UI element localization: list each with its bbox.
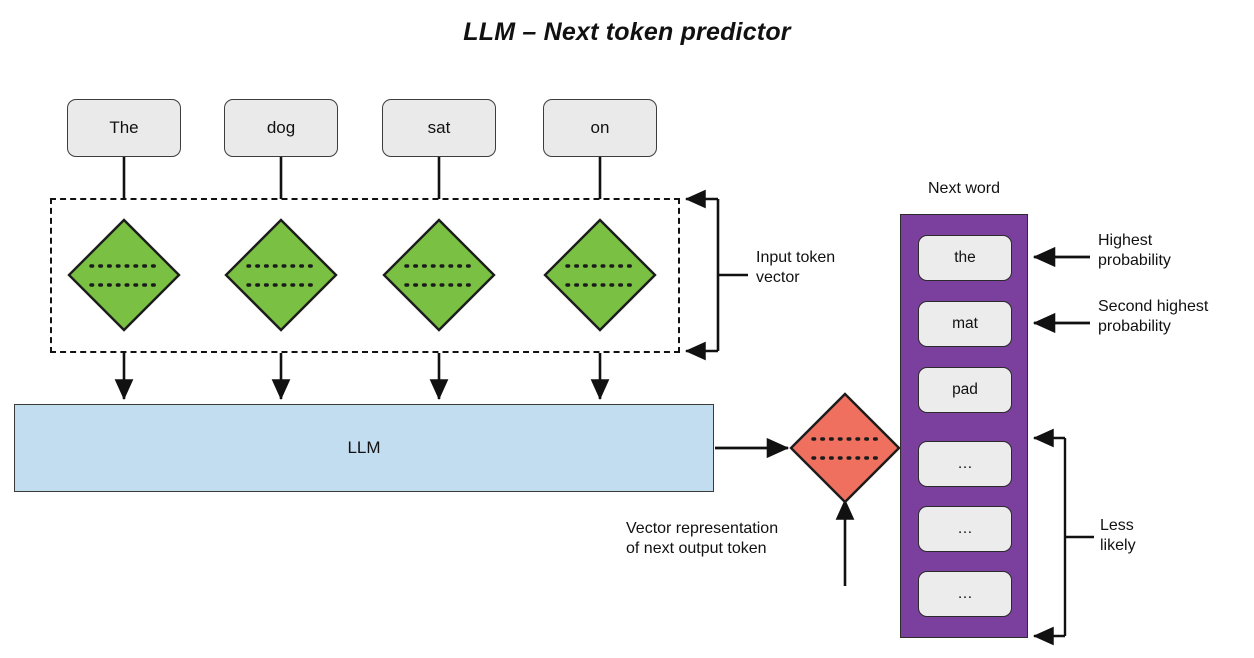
vocabulary-column: the mat pad … … … — [900, 214, 1028, 638]
token-vector-diamond-3[interactable] — [380, 216, 498, 334]
candidate-word-box-2[interactable]: mat — [918, 301, 1012, 347]
input-token-box-2[interactable]: dog — [224, 99, 338, 157]
token-vector-diamond-1[interactable] — [65, 216, 183, 334]
llm-block[interactable]: LLM — [14, 404, 714, 492]
annotation-less-likely: Less likely — [1100, 516, 1210, 555]
input-token-box-4[interactable]: on — [543, 99, 657, 157]
token-vector-diamond-2[interactable] — [222, 216, 340, 334]
candidate-word-label: mat — [952, 315, 978, 333]
input-token-label: dog — [267, 118, 295, 138]
input-token-label: sat — [428, 118, 451, 138]
candidate-word-box-6[interactable]: … — [918, 571, 1012, 617]
candidate-word-label: … — [957, 455, 973, 473]
annotation-second-highest-probability: Second highest probability — [1098, 297, 1254, 336]
input-token-label: The — [109, 118, 138, 138]
annotation-input-token-vector: Input token vector — [756, 248, 886, 287]
candidate-word-box-4[interactable]: … — [918, 441, 1012, 487]
diagram-canvas: LLM – Next token predictor — [0, 0, 1254, 658]
next-word-header: Next word — [900, 180, 1028, 198]
input-token-box-3[interactable]: sat — [382, 99, 496, 157]
candidate-word-box-1[interactable]: the — [918, 235, 1012, 281]
candidate-word-box-3[interactable]: pad — [918, 367, 1012, 413]
annotation-vector-representation: Vector representation of next output tok… — [626, 519, 841, 558]
candidate-word-label: pad — [952, 381, 978, 399]
annotation-highest-probability: Highest probability — [1098, 231, 1248, 270]
token-vector-diamond-4[interactable] — [541, 216, 659, 334]
output-vector-diamond[interactable] — [787, 390, 903, 506]
candidate-word-box-5[interactable]: … — [918, 506, 1012, 552]
page-title: LLM – Next token predictor — [0, 18, 1254, 47]
llm-label: LLM — [347, 438, 380, 458]
candidate-word-label: the — [954, 249, 976, 267]
candidate-word-label: … — [957, 520, 973, 538]
candidate-word-label: … — [957, 585, 973, 603]
input-token-label: on — [591, 118, 610, 138]
input-token-box-1[interactable]: The — [67, 99, 181, 157]
